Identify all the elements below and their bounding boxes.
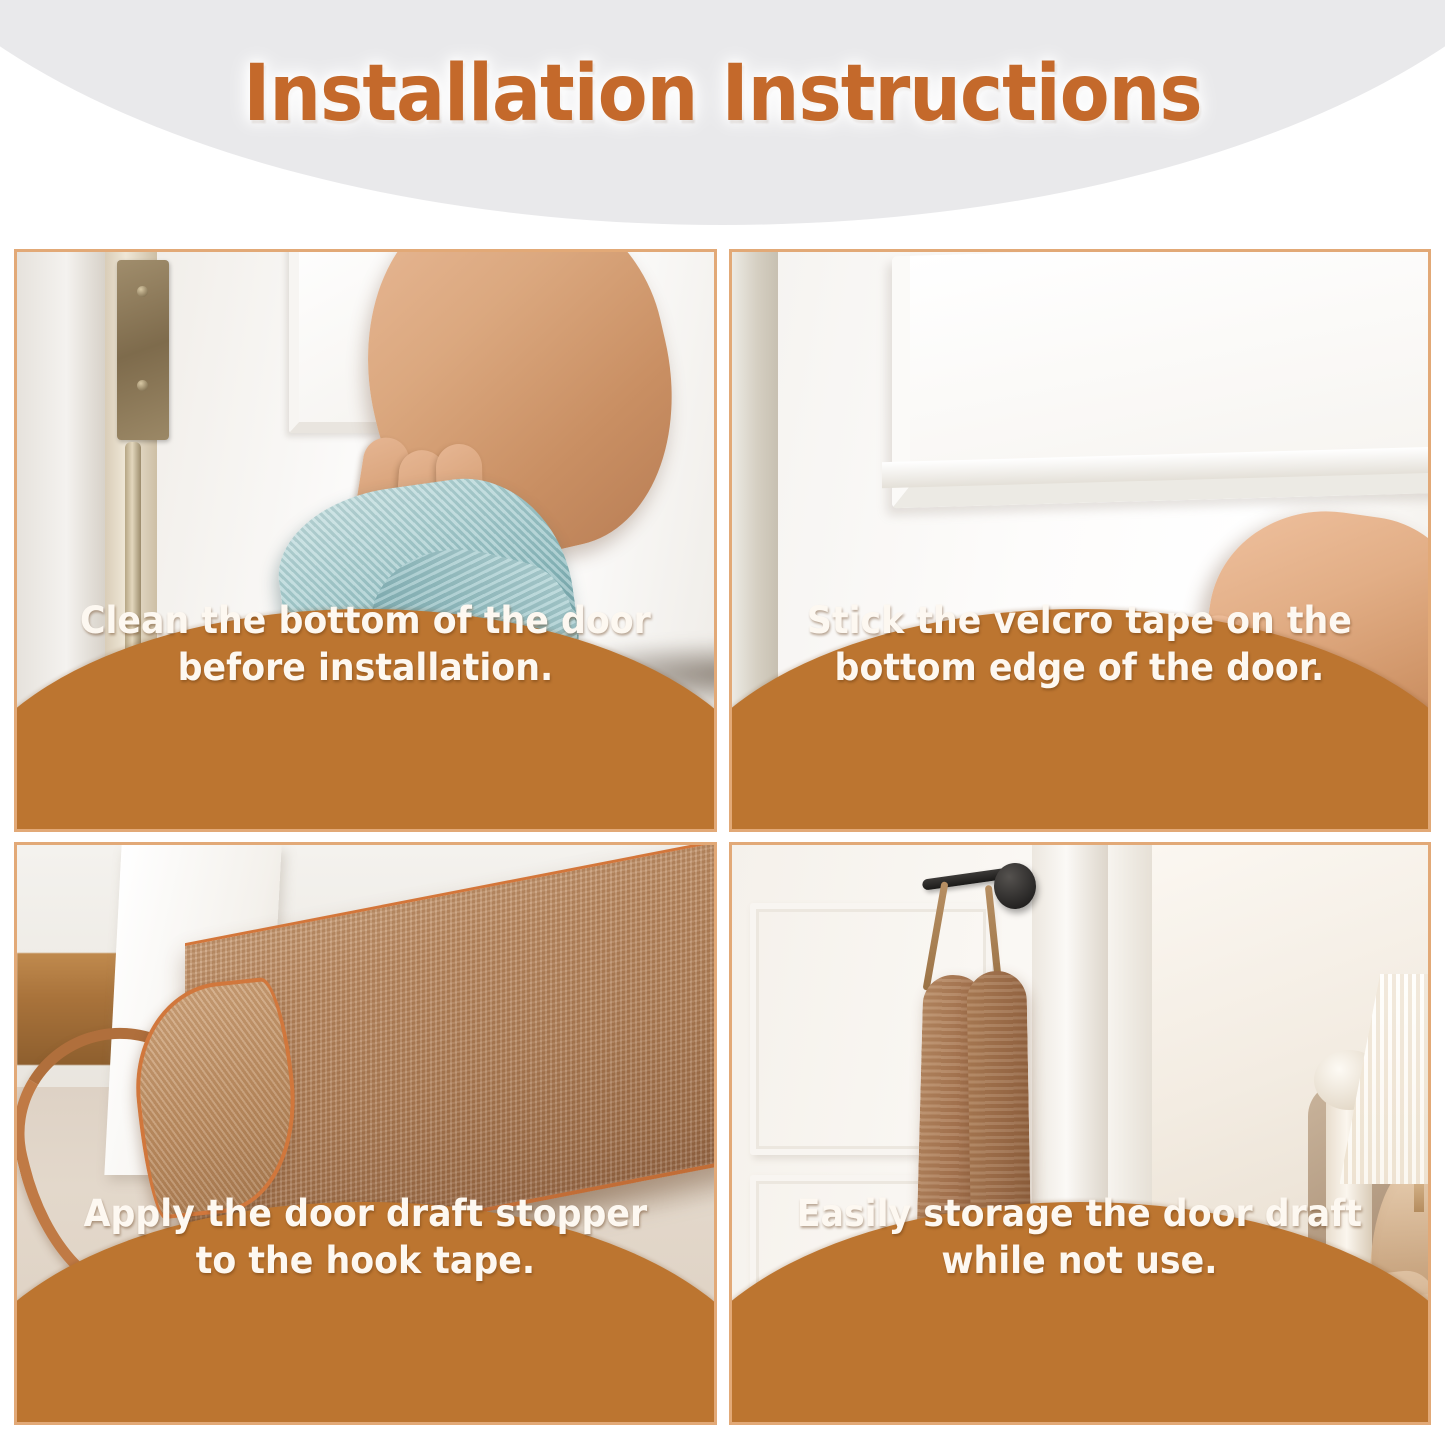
step-3-caption-text: Apply the door draft stopper to the hook… [64, 1190, 666, 1284]
instruction-steps-grid: Clean the bottom of the door before inst… [14, 249, 1431, 1425]
step-panel-1: Clean the bottom of the door before inst… [14, 249, 717, 832]
page-title: Installation Instructions [51, 48, 1395, 140]
step-panel-3: Apply the door draft stopper to the hook… [14, 842, 717, 1425]
step-panel-4: Easily storage the door draft while not … [729, 842, 1432, 1425]
page-header: Installation Instructions [0, 0, 1445, 235]
step-4-caption-text: Easily storage the door draft while not … [779, 1190, 1381, 1284]
step-panel-2: Stick the velcro tape on the bottom edge… [729, 249, 1432, 832]
step-2-caption-text: Stick the velcro tape on the bottom edge… [779, 597, 1381, 691]
step-1-caption-text: Clean the bottom of the door before inst… [64, 597, 666, 691]
door-handle-rosette [994, 863, 1036, 909]
brass-hinge-icon [117, 260, 169, 440]
